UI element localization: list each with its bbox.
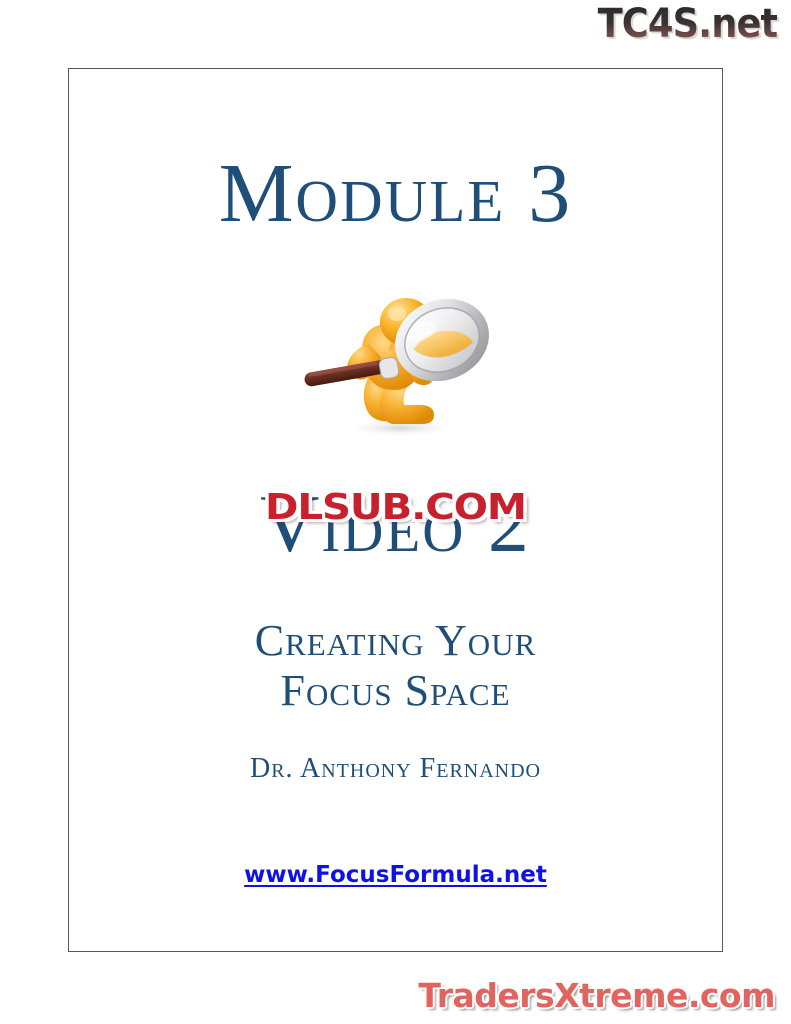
website-link[interactable]: www.FocusFormula.net <box>244 862 547 888</box>
website-link-container: www.FocusFormula.net <box>68 860 723 890</box>
document-page: TC4S.net TC4S.net Module 3 <box>0 0 791 1024</box>
page-title: Module 3 <box>68 148 723 240</box>
video-label-row: Video 2 DLSUB.COM <box>68 474 723 579</box>
author-name: Dr. Anthony Fernando <box>68 752 723 786</box>
magnifying-glass-person-icon <box>296 278 496 438</box>
subtitle-line-1: Creating Your <box>68 616 723 666</box>
video-label: Video 2 <box>260 478 531 569</box>
watermark-tc4s-net: TC4S.net <box>597 4 777 44</box>
watermark-bottom-container: TradersXtreme.com <box>418 974 775 1018</box>
watermark-tradersxtreme-com: TradersXtreme.com <box>418 976 775 1015</box>
subtitle-line-2: Focus Space <box>68 666 723 716</box>
page-subtitle: Creating Your Focus Space <box>68 616 723 716</box>
